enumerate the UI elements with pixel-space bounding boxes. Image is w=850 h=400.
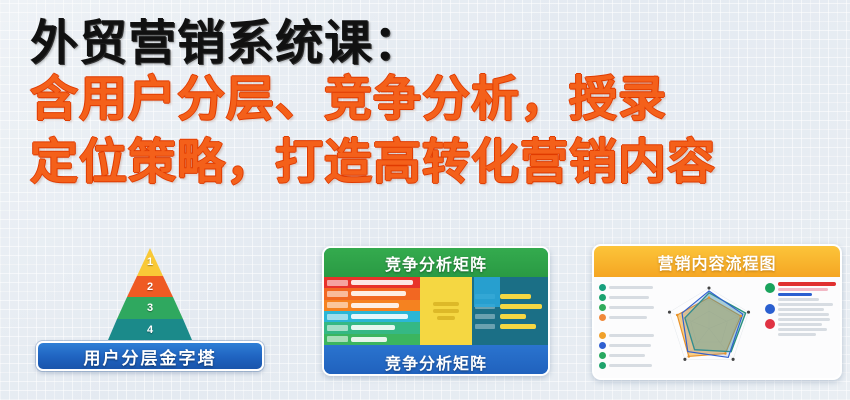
pyramid-level-1: 1	[108, 248, 192, 276]
matrix-center-line	[433, 302, 459, 306]
matrix-right-label	[475, 314, 495, 319]
legend-line	[778, 298, 819, 301]
matrix-row	[324, 288, 420, 299]
legend-line-accent	[778, 282, 836, 286]
legend-line	[778, 318, 830, 321]
legend-line	[778, 308, 824, 311]
legend-line	[609, 316, 647, 319]
matrix-header: 竞争分析矩阵	[324, 248, 548, 277]
legend-spacer	[599, 323, 654, 329]
legend-line	[778, 323, 822, 326]
matrix-row-tag	[327, 291, 348, 297]
headline-block: 外贸营销系统课： 含用户分层、竞争分析，授录 定位策略，打造高转化营销内容	[30, 18, 850, 187]
legend-item	[599, 293, 654, 301]
legend-block	[765, 303, 836, 316]
pyramid-label-button[interactable]: 用户分层金字塔	[36, 341, 264, 371]
legend-dot-icon	[599, 284, 606, 291]
matrix-right-bar	[500, 304, 542, 309]
legend-block	[765, 282, 836, 301]
matrix-header-text: 竞争分析矩阵	[385, 251, 487, 275]
pyramid-label-text: 用户分层金字塔	[84, 344, 217, 369]
pyramid-level-4-number: 4	[147, 324, 153, 336]
legend-line-group	[778, 303, 836, 316]
legend-line	[609, 354, 645, 357]
legend-line	[609, 344, 651, 347]
legend-item	[599, 283, 654, 291]
legend-dot-icon	[599, 294, 606, 301]
matrix-row-bar	[351, 325, 395, 330]
pyramid-level-4: 4	[108, 319, 192, 340]
radar-series-blue	[682, 291, 743, 357]
legend-dot-icon	[599, 304, 606, 311]
legend-item	[599, 313, 654, 321]
legend-line-accent	[778, 293, 812, 296]
matrix-right-bar	[500, 294, 531, 299]
pyramid-level-1-number: 1	[147, 256, 153, 268]
legend-item	[599, 331, 654, 339]
pyramid-level-3: 3	[108, 297, 192, 319]
matrix-row-tag	[327, 325, 348, 331]
legend-item	[599, 341, 654, 349]
pyramid-level-3-number: 3	[147, 302, 153, 314]
legend-block	[765, 318, 836, 336]
radar-chart-svg	[656, 277, 762, 380]
matrix-box: 竞争分析矩阵	[322, 246, 550, 376]
headline-line-3: 定位策略，打造高转化营销内容	[30, 137, 850, 187]
radar-body	[594, 277, 840, 380]
matrix-body	[324, 277, 548, 345]
matrix-row-bar	[351, 280, 413, 285]
radar-header-text: 营销内容流程图	[657, 250, 776, 274]
legend-dot-icon	[599, 352, 606, 359]
legend-dot-icon	[599, 342, 606, 349]
headline-line-1: 外贸营销系统课：	[30, 18, 850, 68]
legend-line	[778, 333, 816, 336]
matrix-center-panel	[420, 277, 472, 345]
matrix-highlight-block	[474, 277, 500, 307]
matrix-row	[324, 322, 420, 333]
card-user-tier-pyramid[interactable]: 1 2 3 4 用户分层金字塔	[0, 243, 300, 400]
legend-line-group	[778, 282, 836, 301]
legend-dot-icon	[599, 332, 606, 339]
matrix-left-column	[324, 277, 420, 345]
matrix-row-bar	[351, 337, 387, 342]
matrix-row	[324, 334, 420, 345]
legend-line-group	[778, 318, 836, 336]
matrix-row-bar	[351, 291, 406, 296]
legend-line	[609, 334, 654, 337]
pyramid-level-2: 2	[108, 276, 192, 297]
matrix-row	[324, 277, 420, 288]
matrix-right-bar	[500, 324, 536, 329]
legend-dot-icon	[599, 314, 606, 321]
card-competitive-analysis-matrix[interactable]: 竞争分析矩阵	[300, 243, 570, 400]
legend-badge-icon	[765, 283, 775, 293]
matrix-center-line	[437, 316, 455, 320]
card-marketing-content-flowchart[interactable]: 营销内容流程图	[570, 243, 850, 400]
matrix-row-tag	[327, 280, 348, 286]
matrix-row-tag	[327, 314, 348, 320]
matrix-row	[324, 300, 420, 311]
matrix-footer-text: 竞争分析矩阵	[385, 350, 487, 374]
matrix-footer: 竞争分析矩阵	[324, 345, 548, 376]
legend-line	[778, 303, 833, 306]
legend-line	[778, 328, 827, 331]
matrix-row-bar	[351, 314, 408, 319]
matrix-row-tag	[327, 336, 348, 342]
matrix-right-bars	[500, 277, 548, 345]
legend-line	[778, 313, 829, 316]
radar-card: 营销内容流程图	[592, 244, 842, 380]
legend-line	[609, 286, 653, 289]
legend-item	[599, 361, 654, 369]
legend-badge-icon	[765, 304, 775, 314]
legend-item	[599, 351, 654, 359]
matrix-right-label	[475, 324, 495, 329]
pyramid-graphic: 1 2 3 4	[108, 248, 192, 340]
headline-line-2: 含用户分层、竞争分析，授录	[30, 74, 850, 124]
legend-line	[609, 364, 652, 367]
legend-line	[609, 296, 649, 299]
pyramid-level-2-number: 2	[147, 281, 153, 293]
matrix-row	[324, 311, 420, 322]
legend-line	[609, 306, 654, 309]
radar-header: 营销内容流程图	[594, 246, 840, 277]
radar-left-legend	[594, 277, 656, 380]
matrix-row-bar	[351, 303, 399, 308]
matrix-row-tag	[327, 302, 348, 308]
matrix-right-bar	[500, 314, 526, 319]
legend-item	[599, 303, 654, 311]
feature-cards-row: 1 2 3 4 用户分层金字塔	[0, 243, 850, 400]
legend-dot-icon	[599, 362, 606, 369]
radar-right-legend	[762, 277, 840, 380]
radar-chart	[656, 277, 762, 380]
legend-line	[778, 288, 828, 291]
legend-badge-icon	[765, 319, 775, 329]
matrix-center-line	[433, 309, 459, 313]
